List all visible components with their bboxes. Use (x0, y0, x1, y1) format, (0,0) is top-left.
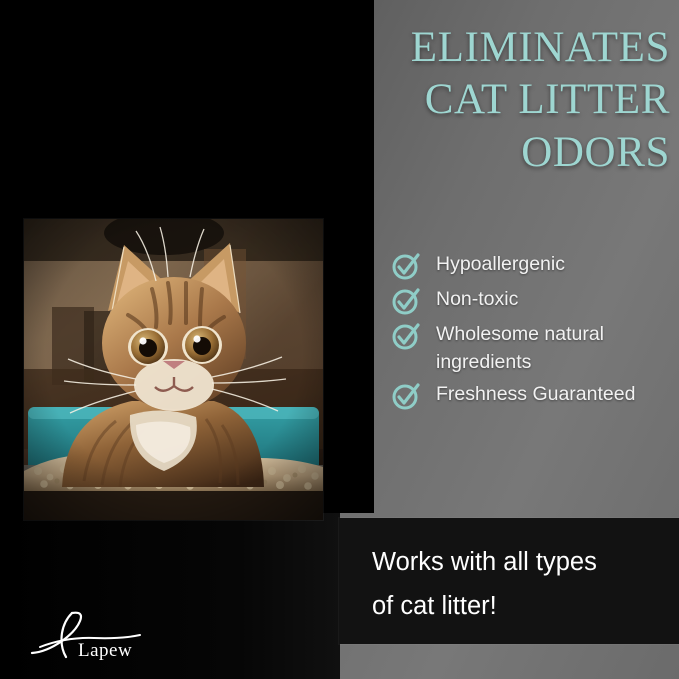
callout-line-2: of cat litter! (372, 584, 662, 628)
brand-logo: Lapew (28, 607, 158, 665)
check-circle-icon (391, 381, 421, 411)
benefit-item: Non-toxic (391, 285, 676, 316)
benefit-label: Hypoallergenic (436, 250, 565, 278)
headline-line-3: ODORS (250, 127, 670, 179)
benefit-item: Hypoallergenic (391, 250, 676, 281)
benefit-item: Wholesome natural ingredients (391, 320, 676, 376)
headline-line-1: ELIMINATES (250, 22, 670, 74)
benefits-list: Hypoallergenic Non-toxic Wholesome natur… (391, 250, 676, 415)
brand-name: Lapew (78, 640, 132, 662)
benefit-label: Freshness Guaranteed (436, 380, 635, 408)
callout-text: Works with all types of cat litter! (372, 540, 662, 628)
benefit-item: Freshness Guaranteed (391, 380, 676, 411)
headline: ELIMINATES CAT LITTER ODORS (250, 22, 670, 179)
callout-line-1: Works with all types (372, 540, 662, 584)
headline-line-2: CAT LITTER (250, 74, 670, 126)
benefit-label: Non-toxic (436, 285, 518, 313)
kitten-photo (24, 219, 323, 520)
callout-box: Works with all types of cat litter! (339, 518, 679, 644)
benefit-label: Wholesome natural ingredients (436, 320, 676, 376)
check-circle-icon (391, 251, 421, 281)
advertisement-creative: ELIMINATES CAT LITTER ODORS (0, 0, 679, 679)
check-circle-icon (391, 286, 421, 316)
check-circle-icon (391, 321, 421, 351)
